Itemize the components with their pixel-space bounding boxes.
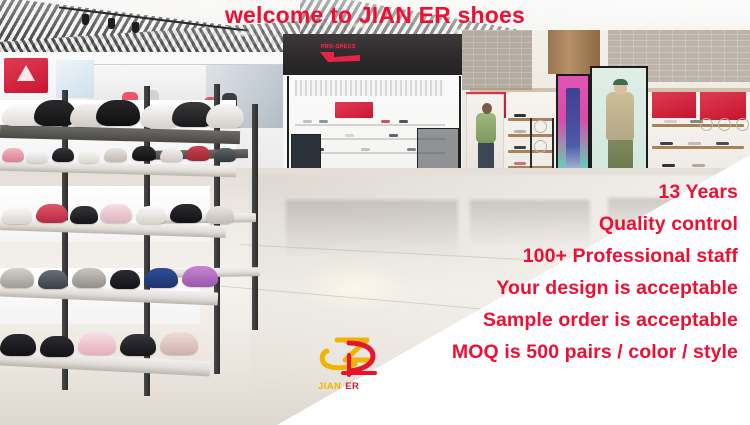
logo-word-er: ER: [345, 381, 359, 392]
wall-ring-display: [534, 120, 547, 133]
display-shoe: [303, 120, 312, 123]
logo-word-jian: JIAN: [318, 381, 341, 392]
pro-specs-swoosh-icon: [318, 50, 362, 63]
pro-specs-poster: [700, 92, 746, 120]
display-shoe: [36, 204, 68, 223]
display-shoe: [78, 150, 99, 163]
display-shoe: [381, 120, 390, 123]
promotional-banner: PRO-SPECS: [0, 0, 750, 425]
display-shoe: [514, 162, 526, 165]
perforated-wall-panel: [295, 80, 445, 96]
display-shoe: [660, 142, 673, 145]
display-shoe: [514, 130, 526, 133]
display-shoe: [186, 146, 210, 161]
screen-figure-torso: [606, 92, 634, 140]
screen-figure-cap: [613, 79, 628, 85]
display-shoe: [132, 146, 156, 161]
display-shoe: [78, 332, 116, 355]
display-shoe: [144, 268, 178, 288]
brick-wall-panel: [462, 30, 532, 90]
feature-item: Your design is acceptable: [178, 272, 738, 304]
logo-wordmark: JIANER: [318, 381, 398, 392]
display-shoe: [100, 204, 132, 223]
display-shoe: [0, 334, 36, 356]
display-shoe: [688, 142, 701, 145]
jian-er-monogram-icon: [315, 337, 399, 383]
page-title: welcome to JIAN ER shoes: [0, 0, 750, 29]
wall-shelf: [652, 146, 744, 149]
feature-list: 13 Years Quality control 100+ Profession…: [178, 176, 738, 368]
wall-ring-display: [718, 118, 731, 131]
display-shoe: [514, 146, 526, 149]
display-shoe: [160, 148, 183, 162]
wall-ring-display: [736, 118, 749, 131]
ceiling-downlight: [234, 30, 250, 37]
display-shoe: [0, 268, 34, 288]
storefront-fascia: PRO-SPECS: [283, 34, 465, 75]
interior-shelf: [295, 124, 445, 126]
display-shoe: [716, 142, 729, 145]
display-shoe: [110, 270, 140, 289]
pro-specs-poster: [652, 92, 696, 118]
display-shoe: [319, 120, 328, 123]
feature-item: MOQ is 500 pairs / color / style: [178, 336, 738, 368]
display-shoe: [120, 334, 156, 356]
display-shoe: [664, 120, 677, 123]
jian-er-logo: JIANER: [315, 337, 399, 399]
feature-item: Sample order is acceptable: [178, 304, 738, 336]
display-shoe: [399, 120, 408, 123]
poster-figure-legs: [478, 142, 494, 170]
display-shoe: [514, 114, 526, 117]
display-shoe: [345, 134, 354, 137]
poster-figure-torso: [476, 113, 496, 143]
display-shoe: [2, 148, 24, 162]
display-shoe: [2, 206, 32, 224]
feature-item: 100+ Professional staff: [178, 240, 738, 272]
display-shoe: [361, 148, 370, 151]
display-shoe: [389, 134, 398, 137]
display-shoe: [214, 148, 236, 162]
feature-item: Quality control: [178, 208, 738, 240]
interior-red-badge: [335, 102, 373, 118]
display-shoe: [70, 206, 98, 224]
poster-figure-head: [482, 103, 492, 114]
wall-ring-display: [534, 140, 547, 153]
display-shoe: [690, 120, 703, 123]
display-shoe: [26, 150, 48, 163]
display-shoe: [136, 206, 166, 224]
display-shoe: [692, 164, 705, 167]
display-shoe: [206, 104, 244, 128]
red-brand-sign-left: [4, 58, 48, 93]
feature-item: 13 Years: [178, 176, 738, 208]
display-shoe: [72, 268, 106, 288]
display-shoe: [38, 270, 68, 289]
display-shoe: [104, 148, 127, 162]
display-shoe: [40, 336, 74, 357]
display-shoe: [52, 148, 74, 162]
display-shoe: [96, 100, 140, 126]
display-shoe: [407, 148, 416, 151]
display-shoe: [662, 164, 675, 167]
